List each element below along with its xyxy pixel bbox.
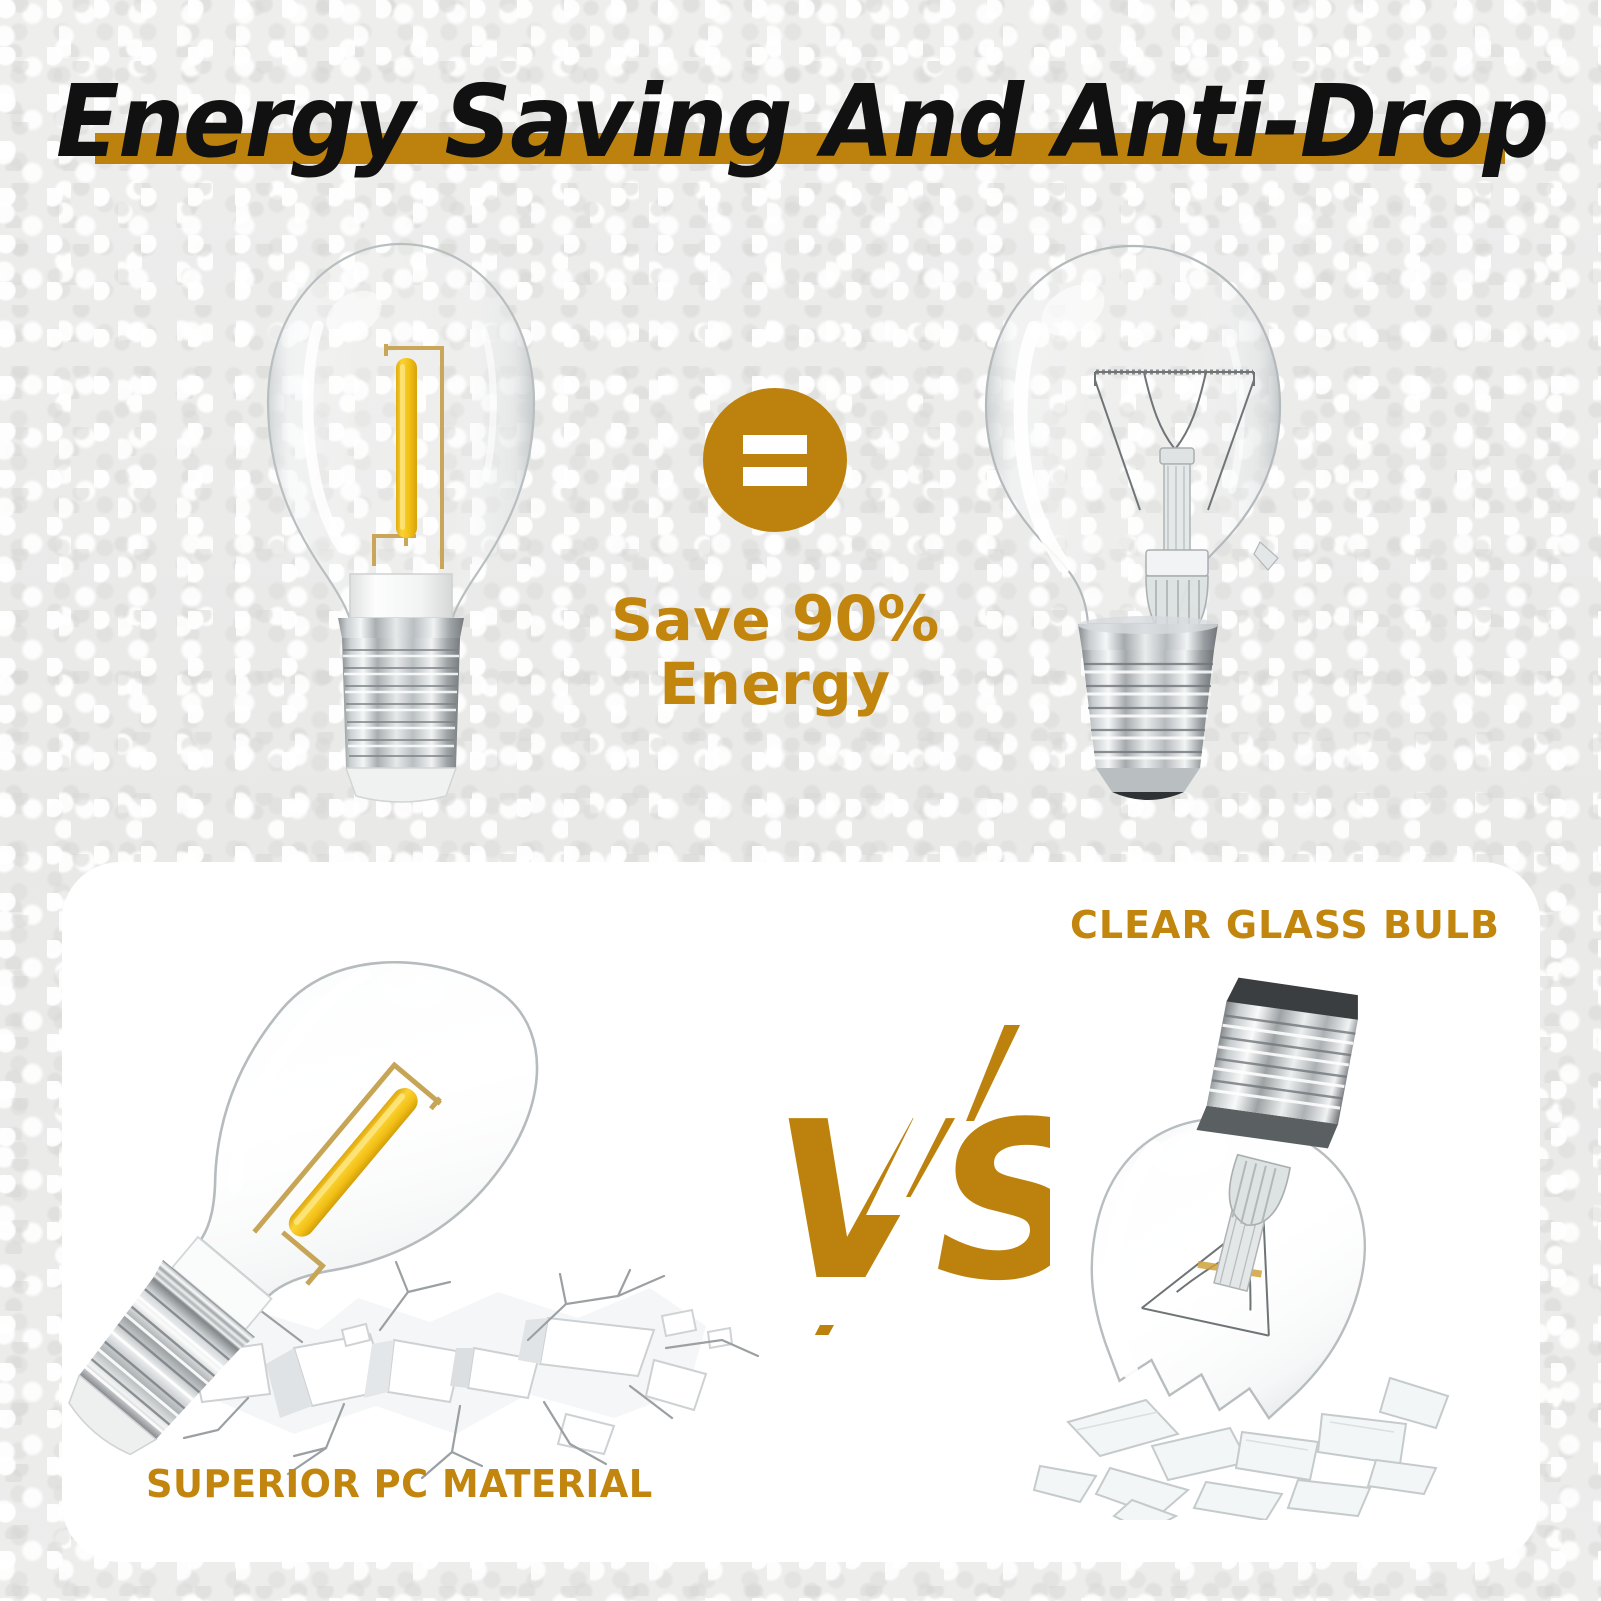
page-title: Energy Saving And Anti-Drop xyxy=(56,58,1545,186)
superior-pc-material-label: SUPERIOR PC MATERIAL xyxy=(146,1462,883,1506)
intact-led-bulb-cracking-floor-icon xyxy=(58,878,768,1488)
shattered-glass-bulb-icon xyxy=(980,960,1480,1520)
equals-bar-top xyxy=(743,435,807,454)
incandescent-a19-bulb-icon xyxy=(968,240,1298,808)
led-filament xyxy=(396,358,417,538)
screw-base xyxy=(1078,616,1218,800)
screw-base xyxy=(338,618,464,802)
bulb-glass xyxy=(986,246,1280,624)
savings-line-1: Save 90% xyxy=(520,586,1030,653)
screw-base xyxy=(1195,965,1370,1163)
equals-bar-bottom xyxy=(743,467,807,486)
led-s14-filament-bulb-icon xyxy=(246,236,556,808)
savings-prefix: Save xyxy=(611,586,792,654)
clear-glass-bulb-label: CLEAR GLASS BULB xyxy=(880,903,1500,947)
savings-percent: 90% xyxy=(792,582,939,655)
equals-sign-icon xyxy=(703,388,847,532)
energy-savings-claim: Save 90% Energy xyxy=(520,586,1030,716)
bulb-driver-base xyxy=(350,574,452,618)
glass-shards xyxy=(1034,1378,1448,1520)
savings-line-2: Energy xyxy=(520,653,1030,716)
header: Energy Saving And Anti-Drop xyxy=(0,58,1601,188)
infographic-poster: Energy Saving And Anti-Drop xyxy=(0,0,1601,1601)
